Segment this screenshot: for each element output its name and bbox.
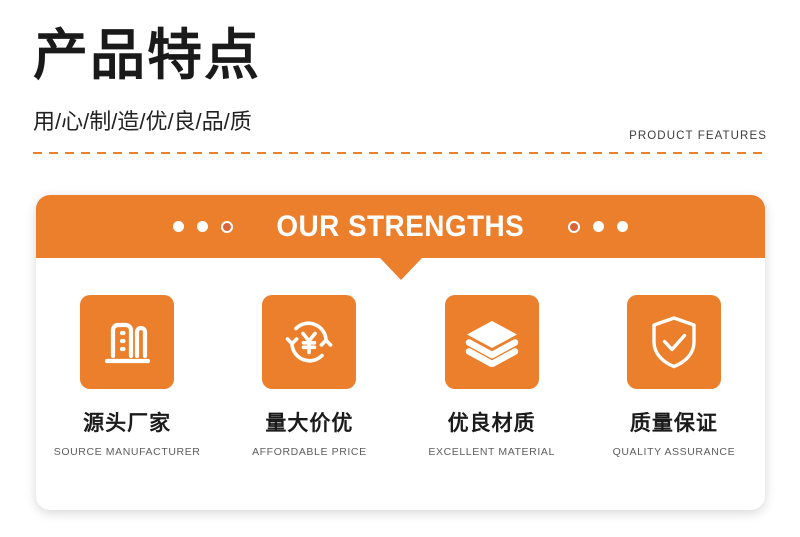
feature-label-en: SOURCE MANUFACTURER bbox=[54, 446, 201, 458]
dot-filled-icon bbox=[173, 221, 184, 232]
feature-item[interactable]: 源头厂家 SOURCE MANUFACTURER bbox=[41, 295, 213, 458]
features-row: 源头厂家 SOURCE MANUFACTURER bbox=[36, 258, 765, 510]
strengths-card: OUR STRENGTHS bbox=[36, 195, 765, 510]
dot-filled-icon bbox=[593, 221, 604, 232]
product-features-page: 产品特点 用/心/制/造/优/良/品/质 PRODUCT FEATURES OU… bbox=[0, 0, 800, 537]
page-title: 产品特点 bbox=[33, 24, 261, 86]
factory-icon bbox=[80, 295, 174, 389]
dot-hollow-icon bbox=[221, 221, 233, 233]
feature-label-en: EXCELLENT MATERIAL bbox=[428, 446, 555, 458]
banner-dots-right bbox=[568, 221, 628, 233]
feature-item[interactable]: 量大价优 AFFORDABLE PRICE bbox=[223, 295, 395, 458]
feature-label-cn: 源头厂家 bbox=[83, 407, 171, 437]
feature-label-cn: 质量保证 bbox=[630, 407, 718, 437]
layers-icon bbox=[445, 295, 539, 389]
feature-item[interactable]: 质量保证 QUALITY ASSURANCE bbox=[588, 295, 760, 458]
banner-title: OUR STRENGTHS bbox=[277, 210, 525, 244]
dot-hollow-icon bbox=[568, 221, 580, 233]
strengths-banner: OUR STRENGTHS bbox=[36, 195, 765, 258]
feature-label-en: QUALITY ASSURANCE bbox=[613, 446, 736, 458]
yuan-cycle-icon bbox=[262, 295, 356, 389]
page-header: 产品特点 用/心/制/造/优/良/品/质 PRODUCT FEATURES bbox=[0, 0, 800, 170]
feature-label-en: AFFORDABLE PRICE bbox=[252, 446, 367, 458]
shield-check-icon bbox=[627, 295, 721, 389]
header-divider bbox=[33, 152, 767, 154]
page-title-english: PRODUCT FEATURES bbox=[629, 129, 767, 143]
banner-dots-left bbox=[173, 221, 233, 233]
page-subtitle: 用/心/制/造/优/良/品/质 bbox=[33, 108, 252, 136]
feature-item[interactable]: 优良材质 EXCELLENT MATERIAL bbox=[406, 295, 578, 458]
dot-filled-icon bbox=[197, 221, 208, 232]
dot-filled-icon bbox=[617, 221, 628, 232]
feature-label-cn: 量大价优 bbox=[265, 407, 353, 437]
feature-label-cn: 优良材质 bbox=[448, 407, 536, 437]
